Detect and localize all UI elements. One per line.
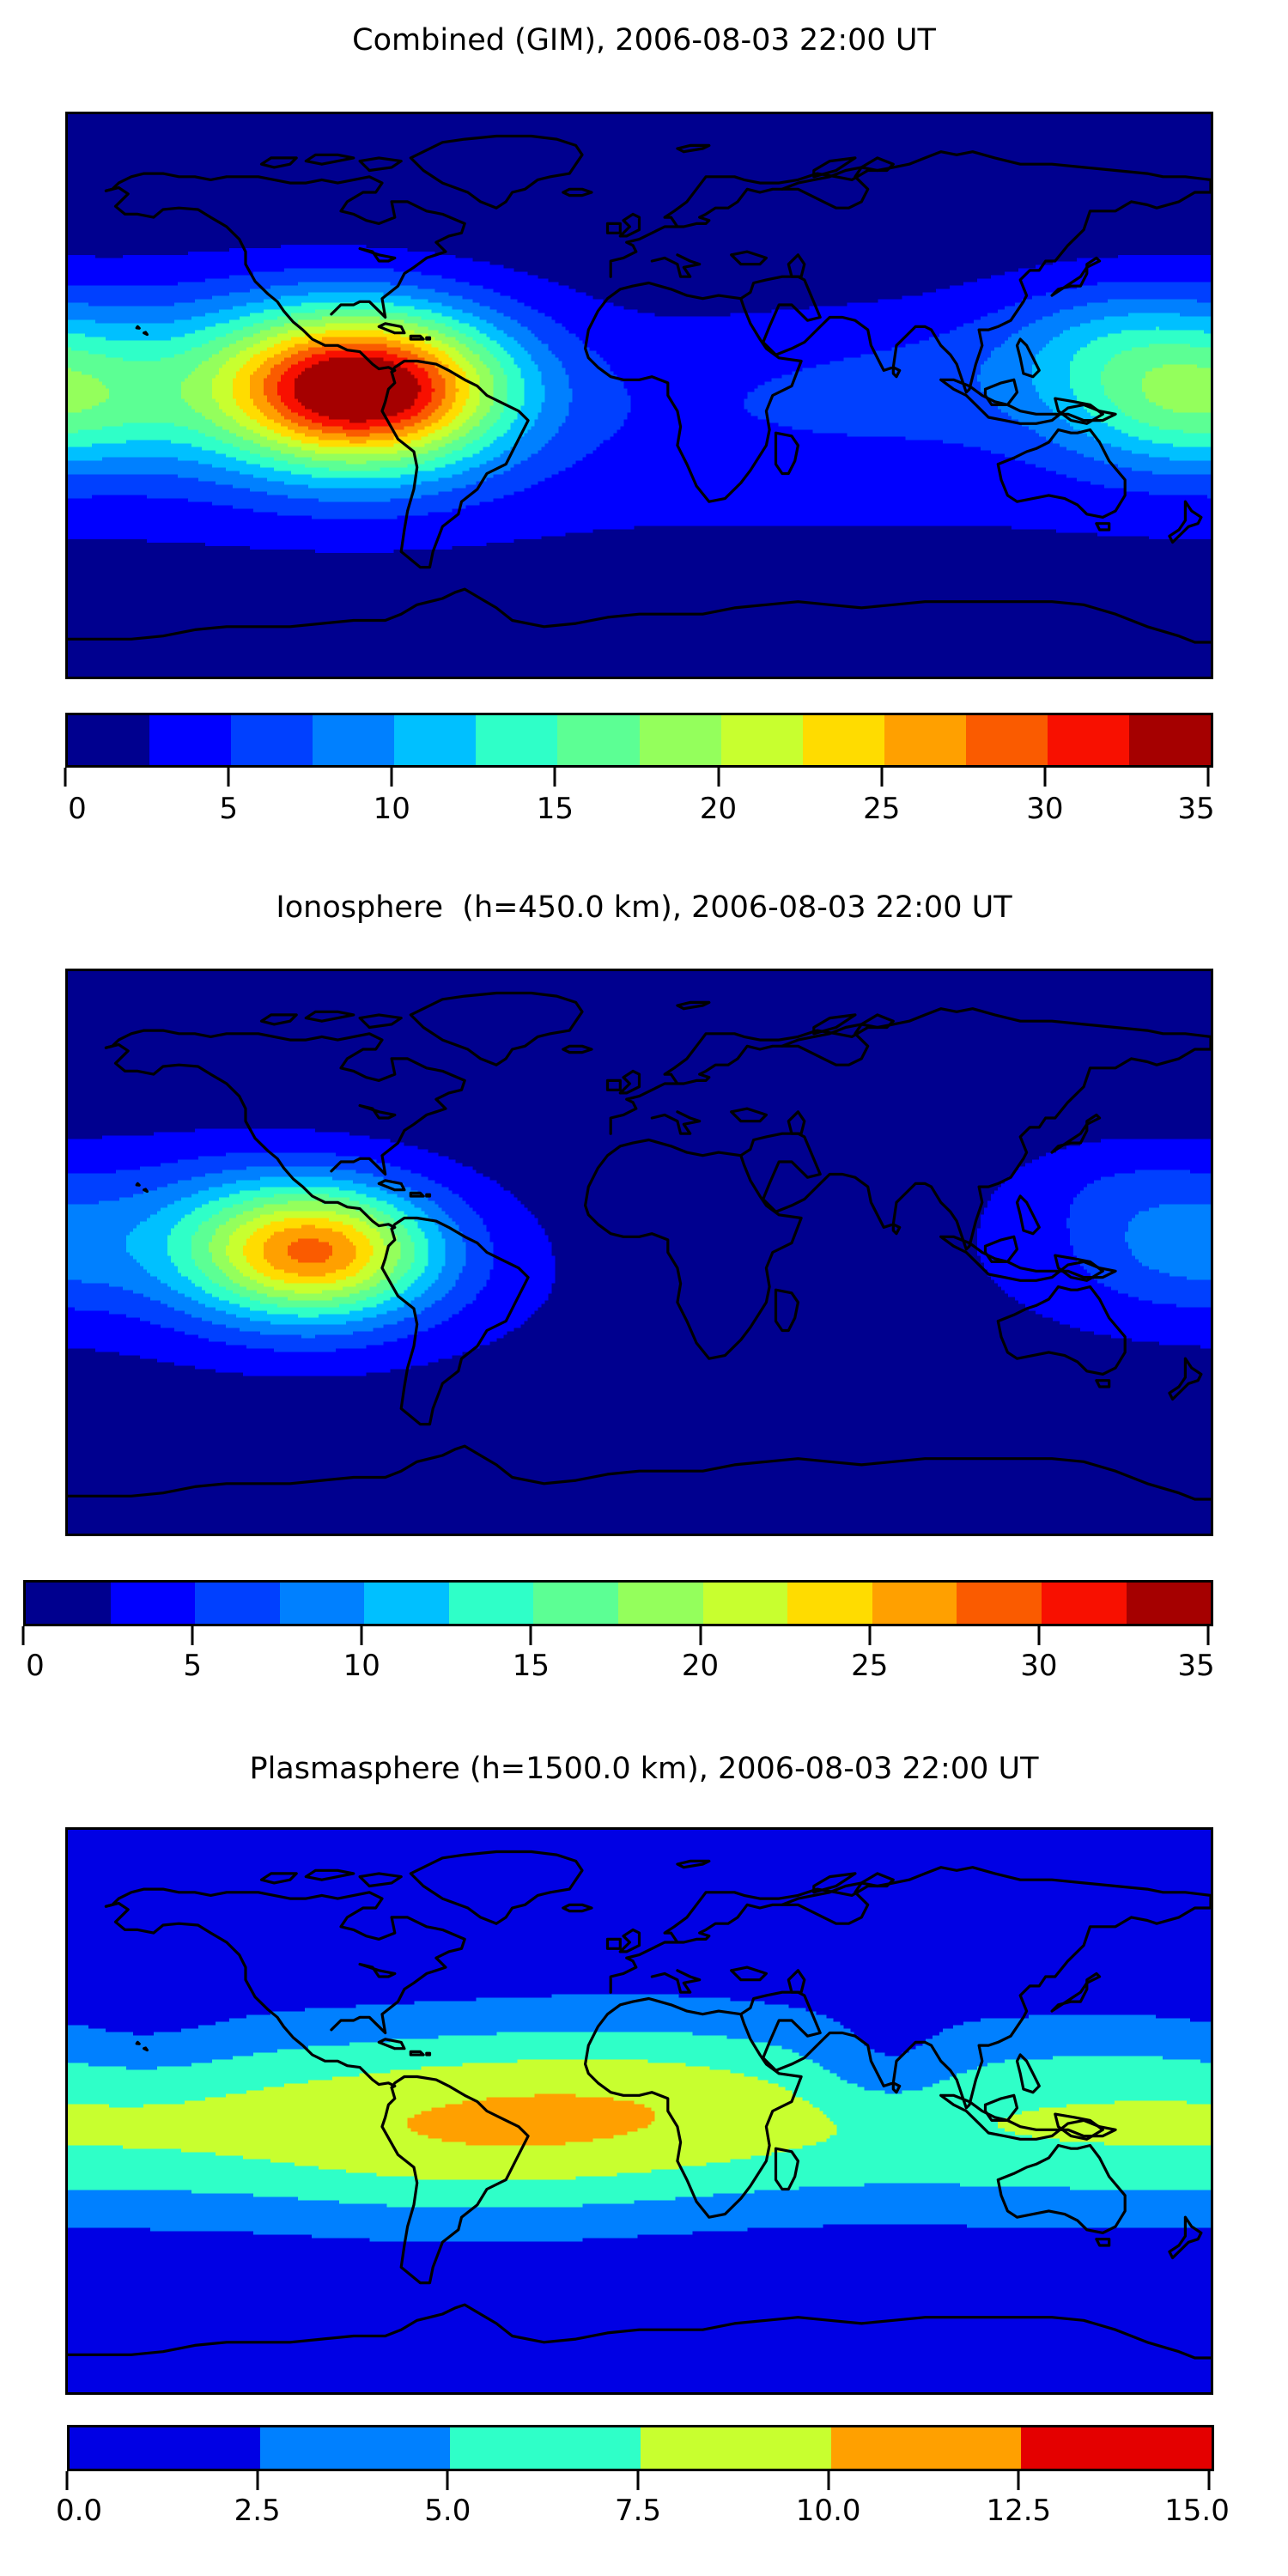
colorbar-tick-labels-ionosphere: 05101520253035 bbox=[23, 1649, 1208, 1688]
colorbar-band-8 bbox=[703, 1583, 788, 1624]
colorbar-band-7 bbox=[640, 715, 721, 765]
colorbar-tick-label: 15 bbox=[537, 792, 574, 826]
colorbar-tick-label: 20 bbox=[682, 1649, 719, 1683]
map-combined-gim bbox=[65, 112, 1213, 679]
colorbar-band-10 bbox=[872, 1583, 957, 1624]
colorbar-tick-label: 5 bbox=[219, 792, 238, 826]
colorbar-tick bbox=[1208, 2471, 1211, 2490]
colorbar-tick-label: 5.0 bbox=[424, 2494, 471, 2528]
tec-figure: Combined (GIM), 2006-08-03 22:00 UT 0510… bbox=[0, 0, 1288, 2576]
colorbar-tick bbox=[361, 1626, 363, 1645]
tec-contour-raster bbox=[68, 971, 1211, 1534]
colorbar-tick bbox=[554, 768, 556, 787]
map-plasmasphere bbox=[65, 1827, 1213, 2395]
colorbar-band-3 bbox=[280, 1583, 365, 1624]
colorbar-tick bbox=[827, 2471, 829, 2490]
colorbar-tick bbox=[22, 1626, 25, 1645]
colorbar-tick-label: 30 bbox=[1026, 792, 1063, 826]
colorbar-tick bbox=[1037, 1626, 1040, 1645]
colorbar-band-6 bbox=[533, 1583, 618, 1624]
colorbar-band-2 bbox=[195, 1583, 280, 1624]
colorbar-tick bbox=[66, 2471, 69, 2490]
contour-map-combined-gim bbox=[68, 114, 1211, 677]
colorbar-band-13 bbox=[1129, 715, 1211, 765]
panel-title-plasmasphere: Plasmasphere (h=1500.0 km), 2006-08-03 2… bbox=[0, 1754, 1288, 1784]
colorbar-tick-label: 10 bbox=[374, 792, 410, 826]
colorbar-band-10 bbox=[884, 715, 966, 765]
colorbar-tick bbox=[447, 2471, 449, 2490]
colorbar-tick-labels-combined-gim: 05101520253035 bbox=[65, 792, 1208, 831]
contour-map-ionosphere bbox=[68, 971, 1211, 1534]
colorbar-tick bbox=[717, 768, 720, 787]
colorbar-tick bbox=[1043, 768, 1046, 787]
colorbar-band-0 bbox=[68, 715, 149, 765]
colorbar-band-5 bbox=[449, 1583, 534, 1624]
colorbar-band-1 bbox=[111, 1583, 196, 1624]
colorbar-band-7 bbox=[618, 1583, 703, 1624]
colorbar-band-0 bbox=[70, 2427, 260, 2469]
colorbar-tick-label: 20 bbox=[700, 792, 737, 826]
colorbar-band-11 bbox=[966, 715, 1048, 765]
colorbar-swatches-plasmasphere bbox=[67, 2425, 1214, 2471]
colorbar-tick bbox=[228, 768, 230, 787]
colorbar-tick bbox=[530, 1626, 532, 1645]
colorbar-tick-labels-plasmasphere: 0.02.55.07.510.012.515.0 bbox=[67, 2494, 1209, 2533]
colorbar-tick bbox=[256, 2471, 258, 2490]
colorbar-band-9 bbox=[787, 1583, 872, 1624]
colorbar-tick bbox=[1207, 1626, 1210, 1645]
colorbar-tick bbox=[1018, 2471, 1020, 2490]
colorbar-band-6 bbox=[557, 715, 639, 765]
colorbar-swatches-combined-gim bbox=[65, 713, 1213, 768]
panel-title-ionosphere: Ionosphere (h=450.0 km), 2006-08-03 22:0… bbox=[0, 893, 1288, 923]
colorbar-tick bbox=[880, 768, 883, 787]
colorbar-tick-label: 10.0 bbox=[796, 2494, 861, 2528]
tec-contour-raster bbox=[68, 1830, 1211, 2392]
colorbar-tick-label: 0 bbox=[26, 1649, 45, 1683]
colorbar-band-8 bbox=[721, 715, 803, 765]
tec-contour-raster bbox=[68, 114, 1211, 677]
colorbar-band-4 bbox=[831, 2427, 1022, 2469]
colorbar-tick bbox=[64, 768, 67, 787]
colorbar-tick bbox=[868, 1626, 871, 1645]
colorbar-band-4 bbox=[364, 1583, 449, 1624]
colorbar-band-11 bbox=[957, 1583, 1042, 1624]
colorbar-tick bbox=[699, 1626, 702, 1645]
colorbar-tick-label: 35 bbox=[1177, 1649, 1214, 1683]
colorbar-band-2 bbox=[231, 715, 313, 765]
colorbar-tick bbox=[391, 768, 393, 787]
colorbar-band-13 bbox=[1127, 1583, 1212, 1624]
colorbar-band-1 bbox=[149, 715, 231, 765]
colorbar-band-12 bbox=[1048, 715, 1129, 765]
colorbar-tick bbox=[1207, 768, 1210, 787]
colorbar-tick bbox=[191, 1626, 194, 1645]
colorbar-band-5 bbox=[476, 715, 557, 765]
colorbar-band-4 bbox=[394, 715, 476, 765]
colorbar-tick-label: 30 bbox=[1020, 1649, 1057, 1683]
colorbar-band-3 bbox=[641, 2427, 831, 2469]
colorbar-tick-label: 35 bbox=[1177, 792, 1214, 826]
colorbar-tick-label: 25 bbox=[863, 792, 900, 826]
colorbar-band-12 bbox=[1042, 1583, 1127, 1624]
colorbar-swatches-ionosphere bbox=[23, 1580, 1213, 1626]
colorbar-tick-label: 2.5 bbox=[234, 2494, 281, 2528]
colorbar-ticks-ionosphere bbox=[23, 1626, 1208, 1645]
colorbar-tick-label: 0 bbox=[68, 792, 87, 826]
colorbar-band-2 bbox=[450, 2427, 641, 2469]
colorbar-tick-label: 0.0 bbox=[56, 2494, 102, 2528]
colorbar-band-3 bbox=[313, 715, 394, 765]
colorbar-tick-label: 15 bbox=[513, 1649, 550, 1683]
colorbar-tick-label: 10 bbox=[343, 1649, 380, 1683]
colorbar-band-0 bbox=[26, 1583, 111, 1624]
colorbar-tick-label: 5 bbox=[183, 1649, 202, 1683]
colorbar-tick-label: 7.5 bbox=[615, 2494, 661, 2528]
panel-title-combined-gim: Combined (GIM), 2006-08-03 22:00 UT bbox=[0, 26, 1288, 56]
colorbar-tick-label: 25 bbox=[851, 1649, 888, 1683]
colorbar-tick bbox=[637, 2471, 640, 2490]
contour-map-plasmasphere bbox=[68, 1830, 1211, 2392]
colorbar-ticks-combined-gim bbox=[65, 768, 1208, 787]
colorbar-band-9 bbox=[803, 715, 884, 765]
colorbar-tick-label: 15.0 bbox=[1164, 2494, 1230, 2528]
map-ionosphere bbox=[65, 969, 1213, 1536]
colorbar-tick-label: 12.5 bbox=[986, 2494, 1051, 2528]
colorbar-band-5 bbox=[1021, 2427, 1212, 2469]
colorbar-band-1 bbox=[260, 2427, 451, 2469]
colorbar-ticks-plasmasphere bbox=[67, 2471, 1209, 2490]
